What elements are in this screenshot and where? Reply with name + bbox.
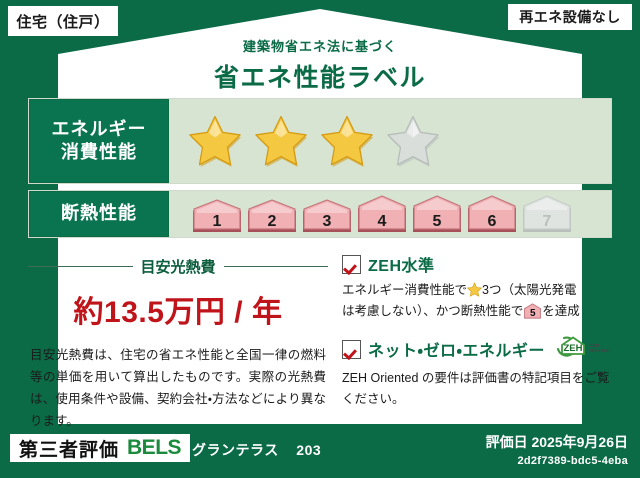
zeh-desc-part1: エネルギー消費性能で xyxy=(342,283,467,297)
rule-left xyxy=(28,266,133,267)
zeh-info-block: ZEH水準 エネルギー消費性能で3つ（太陽光発電は考慮しない）、かつ断熱性能で5… xyxy=(328,252,612,412)
insulation-level-1: 1 xyxy=(191,199,243,233)
room-number: 203 xyxy=(296,442,321,458)
net-zero-checkbox-icon xyxy=(342,340,361,359)
insulation-level-6: 6 xyxy=(466,195,518,233)
zeh-desc-part2: は考慮しない）、かつ断熱性能で xyxy=(342,304,523,318)
zeh-desc-star-count: 3つ（太陽光発電 xyxy=(482,283,576,297)
insulation-performance-row: 断熱性能 1234567 xyxy=(28,190,612,238)
insulation-level-number: 2 xyxy=(246,213,298,231)
utility-cost-note: 目安光熱費は、住宅の省エネ性能と全国一律の燃料等の単価を用いて算出したものです。… xyxy=(28,345,328,433)
energy-label-line2: 消費性能 xyxy=(61,141,137,164)
tag-building-type: 住宅（住戸） xyxy=(8,6,118,36)
zeh-level-description: エネルギー消費性能で3つ（太陽光発電は考慮しない）、かつ断熱性能で5を達成 xyxy=(342,280,612,323)
insulation-level-5: 5 xyxy=(411,195,463,233)
tag-renewable-equipment: 再エネ設備なし xyxy=(508,4,632,30)
insulation-level-number: 5 xyxy=(411,213,463,231)
zeh-oriented-logo-icon: ZEH ZEH Oriented xyxy=(554,335,612,364)
bels-chip: 第三者評価 BELS xyxy=(10,434,190,462)
title-subtitle: 建築物省エネ法に基づく xyxy=(0,36,640,55)
label-title-block: 建築物省エネ法に基づく 省エネ性能ラベル xyxy=(0,36,640,94)
star-empty-icon xyxy=(385,114,441,168)
evaluation-id: 2d2f7389-bdc5-4eba xyxy=(486,455,628,467)
property-identifier: グランテラス 203 xyxy=(192,440,321,460)
energy-performance-row: エネルギー 消費性能 xyxy=(28,98,612,184)
insulation-level-2: 2 xyxy=(246,199,298,233)
star-filled-icon xyxy=(187,114,243,168)
net-zero-heading: ネット・ゼロ・エネルギー ZEH ZEH Oriented xyxy=(342,335,612,364)
insulation-level-4: 4 xyxy=(356,195,408,233)
utility-cost-heading-text: 目安光熱費 xyxy=(141,256,216,277)
insulation-level-7: 7 xyxy=(521,195,573,233)
inline-house-badge-icon: 5 xyxy=(523,303,542,319)
title-main: 省エネ性能ラベル xyxy=(0,58,640,94)
zeh-level-heading: ZEH水準 xyxy=(342,252,612,276)
evaluation-date-label: 評価日 xyxy=(486,434,528,450)
bels-en-logo: BELS xyxy=(127,436,181,460)
net-zero-description: ZEH Oriented の要件は評価書の特記項目をご覧ください。 xyxy=(342,368,612,411)
star-rating xyxy=(187,114,441,168)
zeh-level-checkbox-icon xyxy=(342,255,361,274)
energy-label-line1: エネルギー xyxy=(52,118,147,141)
zeh-desc-part3: を達成 xyxy=(542,304,580,318)
insulation-label-text: 断熱性能 xyxy=(61,202,137,225)
star-filled-icon xyxy=(253,114,309,168)
star-filled-icon xyxy=(319,114,375,168)
insulation-levels-area: 1234567 xyxy=(169,191,611,237)
energy-performance-stars-area xyxy=(169,99,611,183)
insulation-level-scale: 1234567 xyxy=(187,195,573,233)
evaluation-date-line: 評価日 2025年9月26日 xyxy=(486,432,628,452)
inline-star-icon xyxy=(467,282,482,297)
svg-text:ZEH: ZEH xyxy=(563,343,582,354)
property-name: グランテラス xyxy=(192,442,279,458)
net-zero-energy-block: ネット・ゼロ・エネルギー ZEH ZEH Oriented ZEH Orient… xyxy=(342,335,612,411)
footer-bar: 第三者評価 BELS グランテラス 203 評価日 2025年9月26日 2d2… xyxy=(0,426,640,478)
evaluation-date-value: 2025年9月26日 xyxy=(531,434,628,450)
insulation-performance-label: 断熱性能 xyxy=(29,191,169,237)
insulation-level-number: 4 xyxy=(356,213,408,231)
bels-energy-label: 住宅（住戸） 再エネ設備なし 建築物省エネ法に基づく 省エネ性能ラベル エネルギ… xyxy=(0,0,640,478)
insulation-level-3: 3 xyxy=(301,199,353,233)
insulation-level-number: 7 xyxy=(521,213,573,231)
insulation-level-number: 3 xyxy=(301,213,353,231)
net-zero-title: ネット・ゼロ・エネルギー xyxy=(368,337,545,361)
rule-right xyxy=(224,266,329,267)
evaluation-info: 評価日 2025年9月26日 2d2f7389-bdc5-4eba xyxy=(486,432,628,467)
energy-performance-label: エネルギー 消費性能 xyxy=(29,99,169,183)
zeh-level-block: ZEH水準 エネルギー消費性能で3つ（太陽光発電は考慮しない）、かつ断熱性能で5… xyxy=(342,252,612,323)
zeh-level-title: ZEH水準 xyxy=(368,252,435,276)
bels-jp-text: 第三者評価 xyxy=(19,435,119,462)
svg-text:Oriented: Oriented xyxy=(590,348,609,353)
insulation-level-number: 6 xyxy=(466,213,518,231)
lower-content: 目安光熱費 約13.5万円 / 年 目安光熱費は、住宅の省エネ性能と全国一律の燃… xyxy=(28,252,612,412)
inline-house-number: 5 xyxy=(523,309,542,319)
utility-cost-heading: 目安光熱費 xyxy=(28,256,328,277)
utility-cost-value: 約13.5万円 / 年 xyxy=(28,287,328,331)
insulation-level-number: 1 xyxy=(191,213,243,231)
utility-cost-block: 目安光熱費 約13.5万円 / 年 目安光熱費は、住宅の省エネ性能と全国一律の燃… xyxy=(28,252,328,412)
